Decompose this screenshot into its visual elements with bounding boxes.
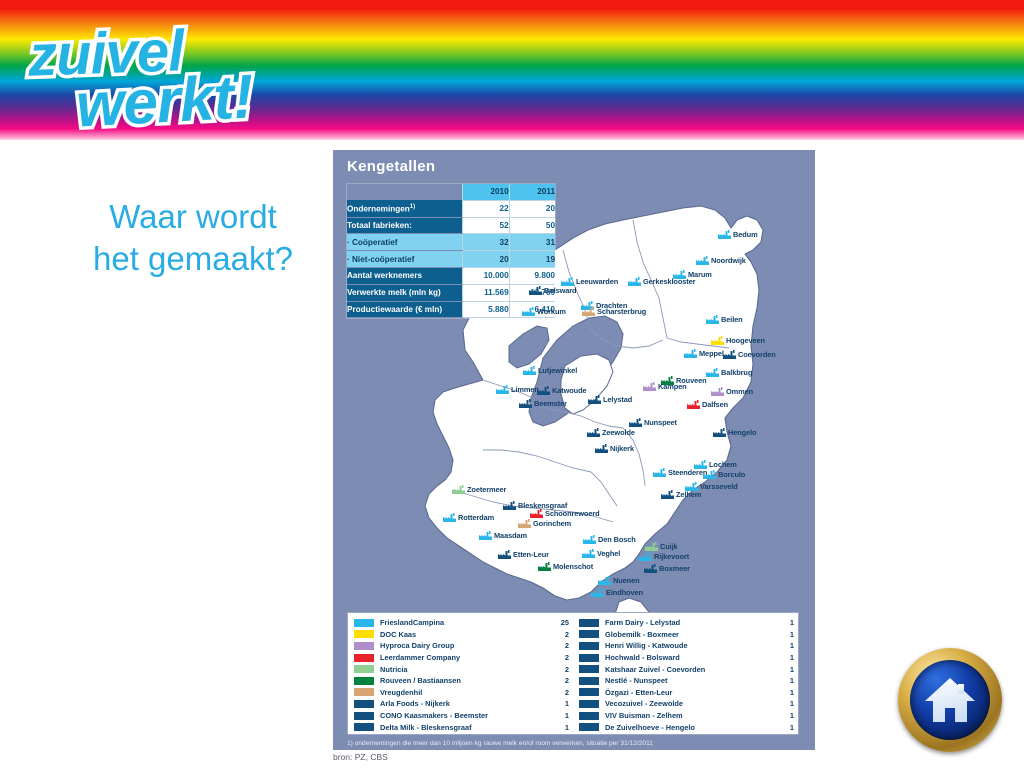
city-marker: Nunspeet — [629, 418, 677, 427]
table-cell-2010: 22 — [463, 200, 509, 217]
table-cell-2011: 20 — [509, 200, 555, 217]
city-marker: Schoonrewoerd — [530, 509, 600, 518]
city-marker: Maasdam — [479, 531, 527, 540]
legend-item: Hyproca Dairy Group2 — [354, 640, 569, 652]
table-cell-2011: 9.800 — [509, 267, 555, 284]
legend-count: 1 — [782, 653, 794, 662]
legend-swatch — [354, 712, 374, 720]
city-label: Katwoude — [552, 386, 587, 395]
city-marker: Rotterdam — [443, 513, 494, 522]
factory-icon — [711, 336, 724, 345]
legend-label: Farm Dairy - Lelystad — [605, 618, 782, 627]
city-label: Rotterdam — [458, 513, 494, 522]
city-label: Etten-Leur — [513, 550, 549, 559]
city-marker: Kampen — [643, 382, 687, 391]
legend-label: Vreugdenhil — [380, 688, 557, 697]
city-label: Beemster — [534, 399, 567, 408]
legend-count: 1 — [557, 711, 569, 720]
city-label: Nuenen — [613, 576, 640, 585]
city-label: Cuijk — [660, 542, 678, 551]
factory-icon — [644, 564, 657, 573]
legend-count: 1 — [782, 688, 794, 697]
factory-icon — [443, 513, 456, 522]
city-label: Balkbrug — [721, 368, 752, 377]
legend-item: Katshaar Zuivel - Coevorden1 — [579, 663, 794, 675]
city-label: Zoetermeer — [467, 485, 506, 494]
city-label: Maasdam — [494, 531, 527, 540]
factory-icon — [684, 349, 697, 358]
table-row-label: Productiewaarde (€ mln) — [347, 301, 463, 318]
legend-item: Özgazi - Etten-Leur1 — [579, 687, 794, 699]
legend-item: Delta Milk - Bleskensgraaf1 — [354, 721, 569, 733]
city-marker: Hengelo — [713, 428, 756, 437]
table-cell-2010: 32 — [463, 234, 509, 251]
logo-word-werkt: werkt! — [74, 61, 254, 141]
table-row: Verwerkte melk (mln kg)11.56911.769 — [347, 284, 555, 301]
legend-label: Rouveen / Bastiaansen — [380, 676, 557, 685]
legend-label: Özgazi - Etten-Leur — [605, 688, 782, 697]
table-cell-2010: 52 — [463, 217, 509, 234]
factory-icon — [645, 542, 658, 551]
city-marker: Eindhoven — [591, 588, 643, 597]
legend-item: DOC Kaas2 — [354, 629, 569, 641]
legend-count: 2 — [557, 676, 569, 685]
legend-label: Arla Foods - Nijkerk — [380, 699, 557, 708]
city-marker: Boxmeer — [644, 564, 690, 573]
table-cell-2010: 10.000 — [463, 267, 509, 284]
legend-count: 1 — [782, 676, 794, 685]
factory-icon — [503, 501, 516, 510]
legend-swatch — [579, 712, 599, 720]
legend-label: Hochwald - Bolsward — [605, 653, 782, 662]
city-label: Gerkesklooster — [643, 277, 695, 286]
table-header-blank — [347, 184, 463, 200]
city-marker: Veghel — [582, 549, 620, 558]
factory-icon — [723, 350, 736, 359]
city-label: Meppel — [699, 349, 724, 358]
company-legend: FrieslandCampina25DOC Kaas2Hyproca Dairy… — [347, 612, 799, 735]
legend-swatch — [354, 723, 374, 731]
legend-count: 2 — [557, 630, 569, 639]
page-title-line2: het gemaakt? — [48, 238, 338, 280]
legend-label: Leerdammer Company — [380, 653, 557, 662]
city-marker: Beemster — [519, 399, 567, 408]
home-button[interactable] — [898, 648, 1002, 752]
legend-label: CONO Kaasmakers - Beemster — [380, 711, 557, 720]
factory-icon — [696, 256, 709, 265]
factory-icon — [530, 509, 543, 518]
city-marker: Zeewolde — [587, 428, 635, 437]
city-marker: Scharsterbrug — [582, 307, 646, 316]
city-label: Coevorden — [738, 350, 776, 359]
table-row-label: Aantal werknemers — [347, 267, 463, 284]
kengetallen-table: 2010 2011 Ondernemingen1)2220Totaal fabr… — [347, 184, 555, 318]
legend-count: 1 — [782, 641, 794, 650]
factory-icon — [687, 400, 700, 409]
legend-swatch — [579, 630, 599, 638]
city-label: Molenschot — [553, 562, 593, 571]
table-row-label: Verwerkte melk (mln kg) — [347, 284, 463, 301]
legend-item: Nestlé - Nunspeet1 — [579, 675, 794, 687]
home-icon — [923, 675, 977, 725]
city-label: Lochem — [709, 460, 737, 469]
factory-icon — [711, 387, 724, 396]
city-marker: Rijkevoort — [639, 552, 689, 561]
table-header-row: 2010 2011 — [347, 184, 555, 200]
city-label: Kampen — [658, 382, 687, 391]
legend-column-left: FrieslandCampina25DOC Kaas2Hyproca Dairy… — [348, 617, 573, 734]
legend-count: 2 — [557, 665, 569, 674]
legend-swatch — [354, 665, 374, 673]
factory-icon — [582, 307, 595, 316]
factory-icon — [582, 549, 595, 558]
factory-icon — [643, 382, 656, 391]
factory-icon — [591, 588, 604, 597]
legend-label: Hyproca Dairy Group — [380, 641, 557, 650]
city-marker: Bolsward — [529, 286, 576, 295]
city-marker: Nuenen — [598, 576, 640, 585]
table-body: Ondernemingen1)2220Totaal fabrieken:5250… — [347, 200, 555, 318]
table-row-label: · Niet-coöperatief — [347, 251, 463, 268]
table-header-2011: 2011 — [509, 184, 555, 200]
city-label: Gorinchem — [533, 519, 571, 528]
city-marker: Zoetermeer — [452, 485, 506, 494]
city-label: Scharsterbrug — [597, 307, 646, 316]
table-cell-2011: 19 — [509, 251, 555, 268]
legend-item: Rouveen / Bastiaansen2 — [354, 675, 569, 687]
city-marker: Leeuwarden — [561, 277, 618, 286]
legend-swatch — [579, 688, 599, 696]
legend-swatch — [579, 677, 599, 685]
city-marker: Nijkerk — [595, 444, 634, 453]
table-cell-2010: 11.569 — [463, 284, 509, 301]
city-marker: Balkbrug — [706, 368, 752, 377]
city-label: Nijkerk — [610, 444, 634, 453]
table-cell-2010: 20 — [463, 251, 509, 268]
zuivel-werkt-logo: zuivel werkt! — [18, 14, 303, 126]
city-marker: Katwoude — [537, 386, 587, 395]
legend-count: 1 — [782, 723, 794, 732]
legend-label: Nestlé - Nunspeet — [605, 676, 782, 685]
legend-label: FrieslandCampina — [380, 618, 557, 627]
legend-label: VIV Buisman - Zelhem — [605, 711, 782, 720]
city-marker: Molenschot — [538, 562, 593, 571]
legend-count: 1 — [782, 699, 794, 708]
factory-icon — [588, 395, 601, 404]
legend-column-right: Farm Dairy - Lelystad1Globemilk - Boxmee… — [573, 617, 798, 734]
factory-icon — [653, 468, 666, 477]
factory-icon — [587, 428, 600, 437]
legend-swatch — [579, 654, 599, 662]
table-row-label: Ondernemingen1) — [347, 200, 463, 217]
table-row: Totaal fabrieken:5250 — [347, 217, 555, 234]
table-cell-2010: 5.880 — [463, 301, 509, 318]
legend-count: 25 — [557, 618, 569, 627]
city-label: Bolsward — [544, 286, 576, 295]
legend-swatch — [354, 619, 374, 627]
legend-item: Arla Foods - Nijkerk1 — [354, 698, 569, 710]
legend-label: Vecozuivel - Zeewolde — [605, 699, 782, 708]
legend-item: CONO Kaasmakers - Beemster1 — [354, 710, 569, 722]
city-label: Ommen — [726, 387, 753, 396]
page-title-line1: Waar wordt — [48, 196, 338, 238]
city-marker: Lelystad — [588, 395, 632, 404]
factory-icon — [519, 399, 532, 408]
factory-icon — [661, 490, 674, 499]
legend-label: Katshaar Zuivel - Coevorden — [605, 665, 782, 674]
city-marker: Workum — [522, 307, 566, 316]
city-marker: Borculo — [703, 470, 745, 479]
city-label: Hoogeveen — [726, 336, 765, 345]
legend-swatch — [354, 630, 374, 638]
factory-icon — [718, 230, 731, 239]
legend-swatch — [579, 700, 599, 708]
city-label: Zeewolde — [602, 428, 635, 437]
city-marker: Zelhem — [661, 490, 701, 499]
city-marker: Limmen — [496, 385, 539, 394]
city-label: Borculo — [718, 470, 745, 479]
table-row: Ondernemingen1)2220 — [347, 200, 555, 217]
city-label: Den Bosch — [598, 535, 636, 544]
city-label: Workum — [537, 307, 566, 316]
legend-count: 1 — [782, 665, 794, 674]
city-marker: Gerkesklooster — [628, 277, 695, 286]
factory-icon — [537, 386, 550, 395]
city-label: Varsseveld — [700, 482, 738, 491]
city-label: Zelhem — [676, 490, 701, 499]
city-marker: Beilen — [706, 315, 743, 324]
factory-icon — [713, 428, 726, 437]
legend-item: De Zuivelhoeve - Hengelo1 — [579, 721, 794, 733]
legend-item: Henri Willig - Katwoude1 — [579, 640, 794, 652]
city-marker: Noordwijk — [696, 256, 746, 265]
factory-icon — [583, 535, 596, 544]
factory-icon — [523, 366, 536, 375]
city-marker: Meppel — [684, 349, 724, 358]
factory-icon — [479, 531, 492, 540]
legend-label: Nutricia — [380, 665, 557, 674]
legend-label: Globemilk - Boxmeer — [605, 630, 782, 639]
legend-count: 1 — [557, 723, 569, 732]
city-label: Beilen — [721, 315, 743, 324]
legend-item: Nutricia2 — [354, 663, 569, 675]
legend-swatch — [354, 677, 374, 685]
page-title: Waar wordt het gemaakt? — [48, 196, 338, 280]
city-label: Dalfsen — [702, 400, 728, 409]
factory-icon — [703, 470, 716, 479]
city-marker: Bedum — [718, 230, 758, 239]
factory-icon — [706, 368, 719, 377]
legend-item: Hochwald - Bolsward1 — [579, 652, 794, 664]
city-marker: Steenderen — [653, 468, 707, 477]
footnote: 1) ondernemingen die meer dan 10 miljoen… — [347, 740, 799, 747]
factory-icon — [452, 485, 465, 494]
table-cell-2011: 31 — [509, 234, 555, 251]
factory-icon — [595, 444, 608, 453]
city-label: Eindhoven — [606, 588, 643, 597]
factory-icon — [629, 418, 642, 427]
legend-count: 1 — [782, 618, 794, 627]
factory-icon — [518, 519, 531, 528]
city-label: Leeuwarden — [576, 277, 618, 286]
city-marker: Dalfsen — [687, 400, 728, 409]
city-marker: Etten-Leur — [498, 550, 549, 559]
factory-icon — [538, 562, 551, 571]
legend-item: Farm Dairy - Lelystad1 — [579, 617, 794, 629]
factory-icon — [496, 385, 509, 394]
legend-swatch — [354, 654, 374, 662]
city-marker: Den Bosch — [583, 535, 636, 544]
table-row-label: · Coöperatief — [347, 234, 463, 251]
table-header-2010: 2010 — [463, 184, 509, 200]
city-marker: Cuijk — [645, 542, 678, 551]
legend-swatch — [579, 642, 599, 650]
legend-count: 2 — [557, 653, 569, 662]
table-row: · Niet-coöperatief2019 — [347, 251, 555, 268]
factory-icon — [706, 315, 719, 324]
legend-swatch — [579, 619, 599, 627]
legend-label: Henri Willig - Katwoude — [605, 641, 782, 650]
city-label: Limmen — [511, 385, 539, 394]
city-marker: Coevorden — [723, 350, 776, 359]
legend-item: VIV Buisman - Zelhem1 — [579, 710, 794, 722]
city-label: Lelystad — [603, 395, 632, 404]
legend-item: Vecozuivel - Zeewolde1 — [579, 698, 794, 710]
map-panel: Kengetallen 2010 2011 Ondernemingen1)222… — [333, 150, 815, 750]
city-label: Boxmeer — [659, 564, 690, 573]
source-note: bron: PZ, CBS — [333, 752, 388, 762]
city-marker: Gorinchem — [518, 519, 571, 528]
city-label: Nunspeet — [644, 418, 677, 427]
legend-count: 1 — [782, 711, 794, 720]
legend-swatch — [579, 723, 599, 731]
panel-title: Kengetallen — [347, 158, 435, 175]
city-marker: Ommen — [711, 387, 753, 396]
table-row: Aantal werknemers10.0009.800 — [347, 267, 555, 284]
city-marker: Hoogeveen — [711, 336, 765, 345]
legend-item: Globemilk - Boxmeer1 — [579, 629, 794, 641]
city-label: Veghel — [597, 549, 620, 558]
city-label: Rijkevoort — [654, 552, 689, 561]
legend-swatch — [579, 665, 599, 673]
city-marker: Lutjewinkel — [523, 366, 577, 375]
legend-item: Vreugdenhil2 — [354, 687, 569, 699]
table-row-label: Totaal fabrieken: — [347, 217, 463, 234]
city-label: Lutjewinkel — [538, 366, 577, 375]
legend-swatch — [354, 642, 374, 650]
city-label: Schoonrewoerd — [545, 509, 600, 518]
factory-icon — [598, 576, 611, 585]
factory-icon — [639, 552, 652, 561]
legend-label: De Zuivelhoeve - Hengelo — [605, 723, 782, 732]
table-row: · Coöperatief3231 — [347, 234, 555, 251]
legend-item: Leerdammer Company2 — [354, 652, 569, 664]
city-label: Steenderen — [668, 468, 707, 477]
city-label: Bedum — [733, 230, 758, 239]
legend-item: FrieslandCampina25 — [354, 617, 569, 629]
table-cell-2011: 50 — [509, 217, 555, 234]
legend-count: 2 — [557, 641, 569, 650]
legend-swatch — [354, 700, 374, 708]
factory-icon — [529, 286, 542, 295]
legend-count: 1 — [557, 699, 569, 708]
legend-label: Delta Milk - Bleskensgraaf — [380, 723, 557, 732]
factory-icon — [498, 550, 511, 559]
legend-label: DOC Kaas — [380, 630, 557, 639]
home-button-inner — [910, 660, 990, 740]
factory-icon — [561, 277, 574, 286]
factory-icon — [628, 277, 641, 286]
city-label: Hengelo — [728, 428, 756, 437]
factory-icon — [522, 307, 535, 316]
legend-count: 1 — [782, 630, 794, 639]
legend-count: 2 — [557, 688, 569, 697]
city-label: Noordwijk — [711, 256, 746, 265]
legend-swatch — [354, 688, 374, 696]
